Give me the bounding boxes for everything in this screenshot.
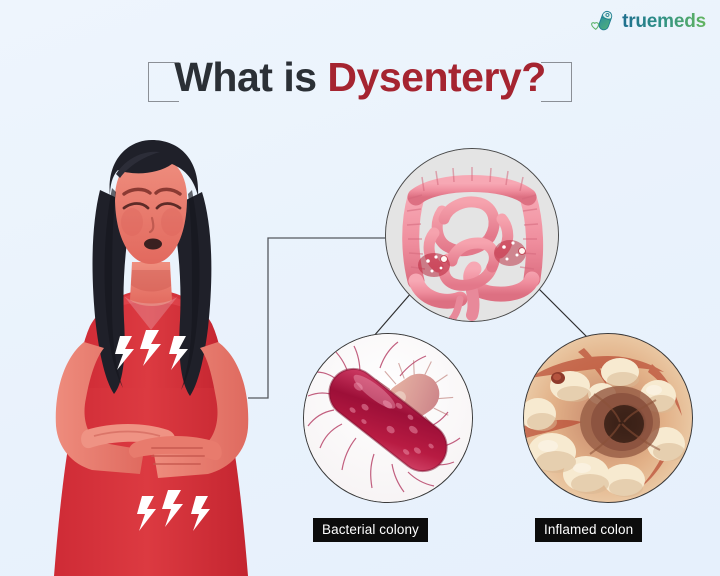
title-part-dark: What is <box>174 54 327 100</box>
brand-name: truemeds <box>622 11 706 33</box>
page-title-container: What is Dysentery? <box>0 56 720 99</box>
woman-abdominal-pain-illustration <box>20 130 280 576</box>
page-title: What is Dysentery? <box>174 56 546 99</box>
title-bracket-left <box>148 62 179 102</box>
title-part-red: Dysentery? <box>327 54 545 100</box>
lesion-marker-left <box>418 253 450 277</box>
lesion-marker-right <box>494 240 526 266</box>
title-bracket-right <box>541 62 572 102</box>
caption-inflamed-colon: Inflamed colon <box>535 518 642 542</box>
brand-logo[interactable]: truemeds <box>591 9 706 35</box>
figure-inflamed-colon[interactable] <box>523 333 693 503</box>
title-block: What is Dysentery? <box>148 56 572 99</box>
figure-bacterial-colony[interactable] <box>303 333 473 503</box>
caption-bacterial-colony: Bacterial colony <box>313 518 428 542</box>
infographic-canvas: truemeds What is Dysentery? <box>0 0 720 576</box>
figure-intestine[interactable] <box>385 148 559 322</box>
capsule-heart-icon <box>591 9 617 35</box>
